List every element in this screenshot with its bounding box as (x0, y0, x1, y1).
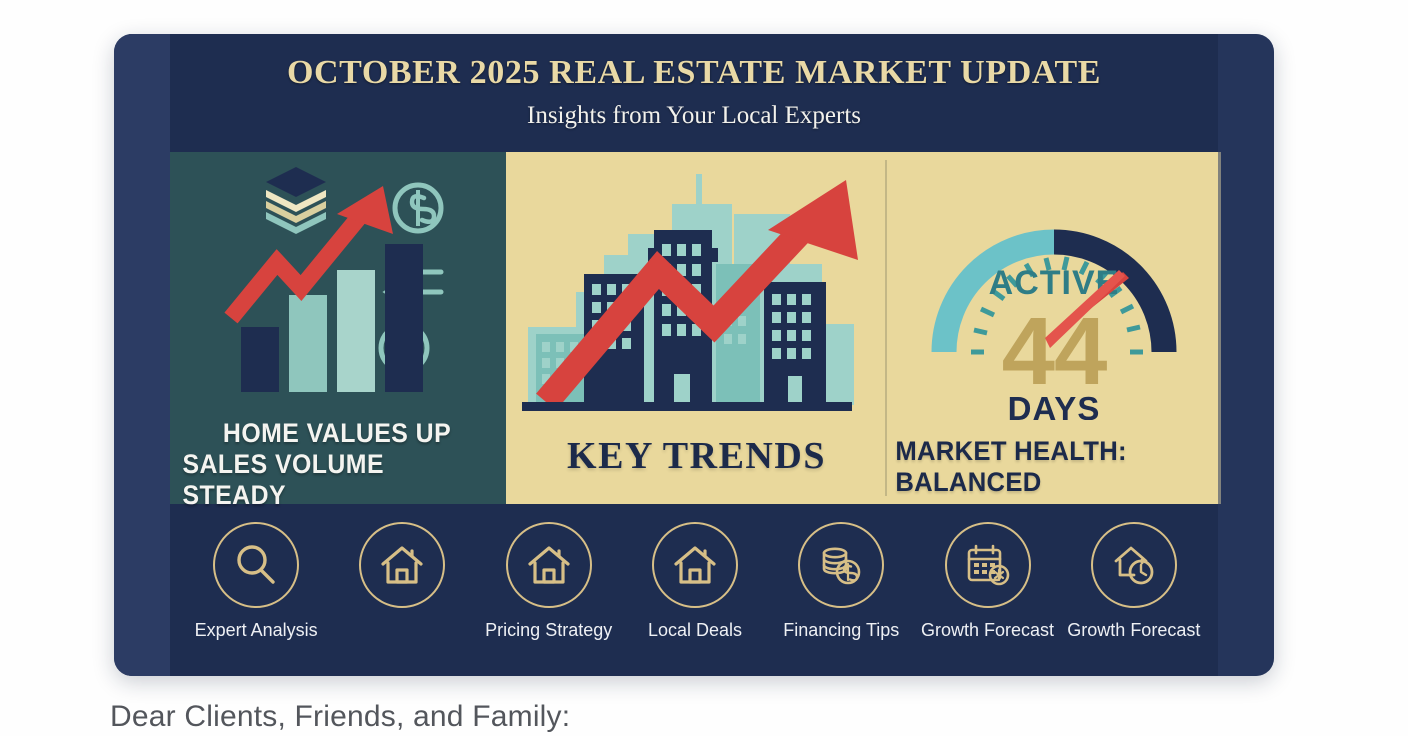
service-icon-strip: Expert Analysis (169, 504, 1221, 676)
bar-chart-illustration (169, 152, 506, 412)
key-trends-panel[interactable]: KEY TRENDS (506, 152, 887, 504)
panel-row: HOME VALUES UP SALES VOLUME STEADY (169, 152, 1221, 504)
ground-line (522, 402, 852, 411)
newsletter-page: OCTOBER 2025 REAL ESTATE MARKET UPDATE I… (0, 0, 1408, 736)
service-label: Financing Tips (783, 620, 899, 641)
stacked-layers-icon (266, 167, 326, 234)
service-item-growth-forecast-calendar[interactable]: Growth Forecast (914, 522, 1060, 641)
home-values-caption: HOME VALUES UP SALES VOLUME STEADY (169, 412, 506, 504)
market-health-caption: MARKET HEALTH: BALANCED (887, 412, 1221, 504)
house-icon[interactable] (359, 522, 445, 608)
letter-greeting: Dear Clients, Friends, and Family: (110, 700, 570, 734)
market-health-panel[interactable]: ACTIVE 44 DAYS MARKET HEALTH: BALANCED (887, 152, 1221, 504)
page-title: OCTOBER 2025 REAL ESTATE MARKET UPDATE (114, 54, 1274, 92)
city-skyline-icon (506, 152, 887, 417)
service-item-financing-tips[interactable]: Financing Tips (768, 522, 914, 641)
calendar-star-icon[interactable] (945, 522, 1031, 608)
service-label: Pricing Strategy (485, 620, 612, 641)
gauge-illustration: ACTIVE 44 DAYS (887, 152, 1221, 420)
magnifier-icon[interactable] (213, 522, 299, 608)
coin-stack-dollar-icon[interactable] (798, 522, 884, 608)
service-item-growth-forecast-clock[interactable]: Growth Forecast (1061, 522, 1207, 641)
caption-key-trends: KEY TRENDS (567, 434, 826, 478)
house-clock-icon[interactable] (1091, 522, 1177, 608)
caption-line-1: HOME VALUES UP (223, 418, 451, 449)
house-icon[interactable] (506, 522, 592, 608)
house-icon[interactable] (652, 522, 738, 608)
market-update-hero-card: OCTOBER 2025 REAL ESTATE MARKET UPDATE I… (114, 34, 1274, 676)
service-label: Growth Forecast (921, 620, 1054, 641)
hero-header: OCTOBER 2025 REAL ESTATE MARKET UPDATE I… (114, 34, 1274, 152)
service-item-expert-analysis[interactable]: Expert Analysis (183, 522, 329, 641)
gauge-value: 44 (1002, 298, 1107, 405)
service-item-pricing-strategy[interactable]: Pricing Strategy (476, 522, 622, 641)
market-health-gauge: ACTIVE 44 DAYS (887, 152, 1221, 412)
home-values-artwork (169, 152, 506, 412)
key-trends-artwork (506, 152, 887, 412)
key-trends-caption: KEY TRENDS (506, 412, 887, 504)
caption-market-health: MARKET HEALTH: BALANCED (895, 436, 1212, 498)
service-item-local-deals[interactable]: Local Deals (622, 522, 768, 641)
service-label: Local Deals (648, 620, 742, 641)
caption-line-2: SALES VOLUME STEADY (182, 449, 492, 511)
dollar-coin-icon-top (395, 185, 441, 231)
page-subtitle: Insights from Your Local Experts (114, 102, 1274, 130)
service-label: Expert Analysis (195, 620, 318, 641)
service-label: Growth Forecast (1067, 620, 1200, 641)
service-item-house-2[interactable] (329, 522, 475, 620)
home-values-panel[interactable]: HOME VALUES UP SALES VOLUME STEADY (169, 152, 506, 504)
